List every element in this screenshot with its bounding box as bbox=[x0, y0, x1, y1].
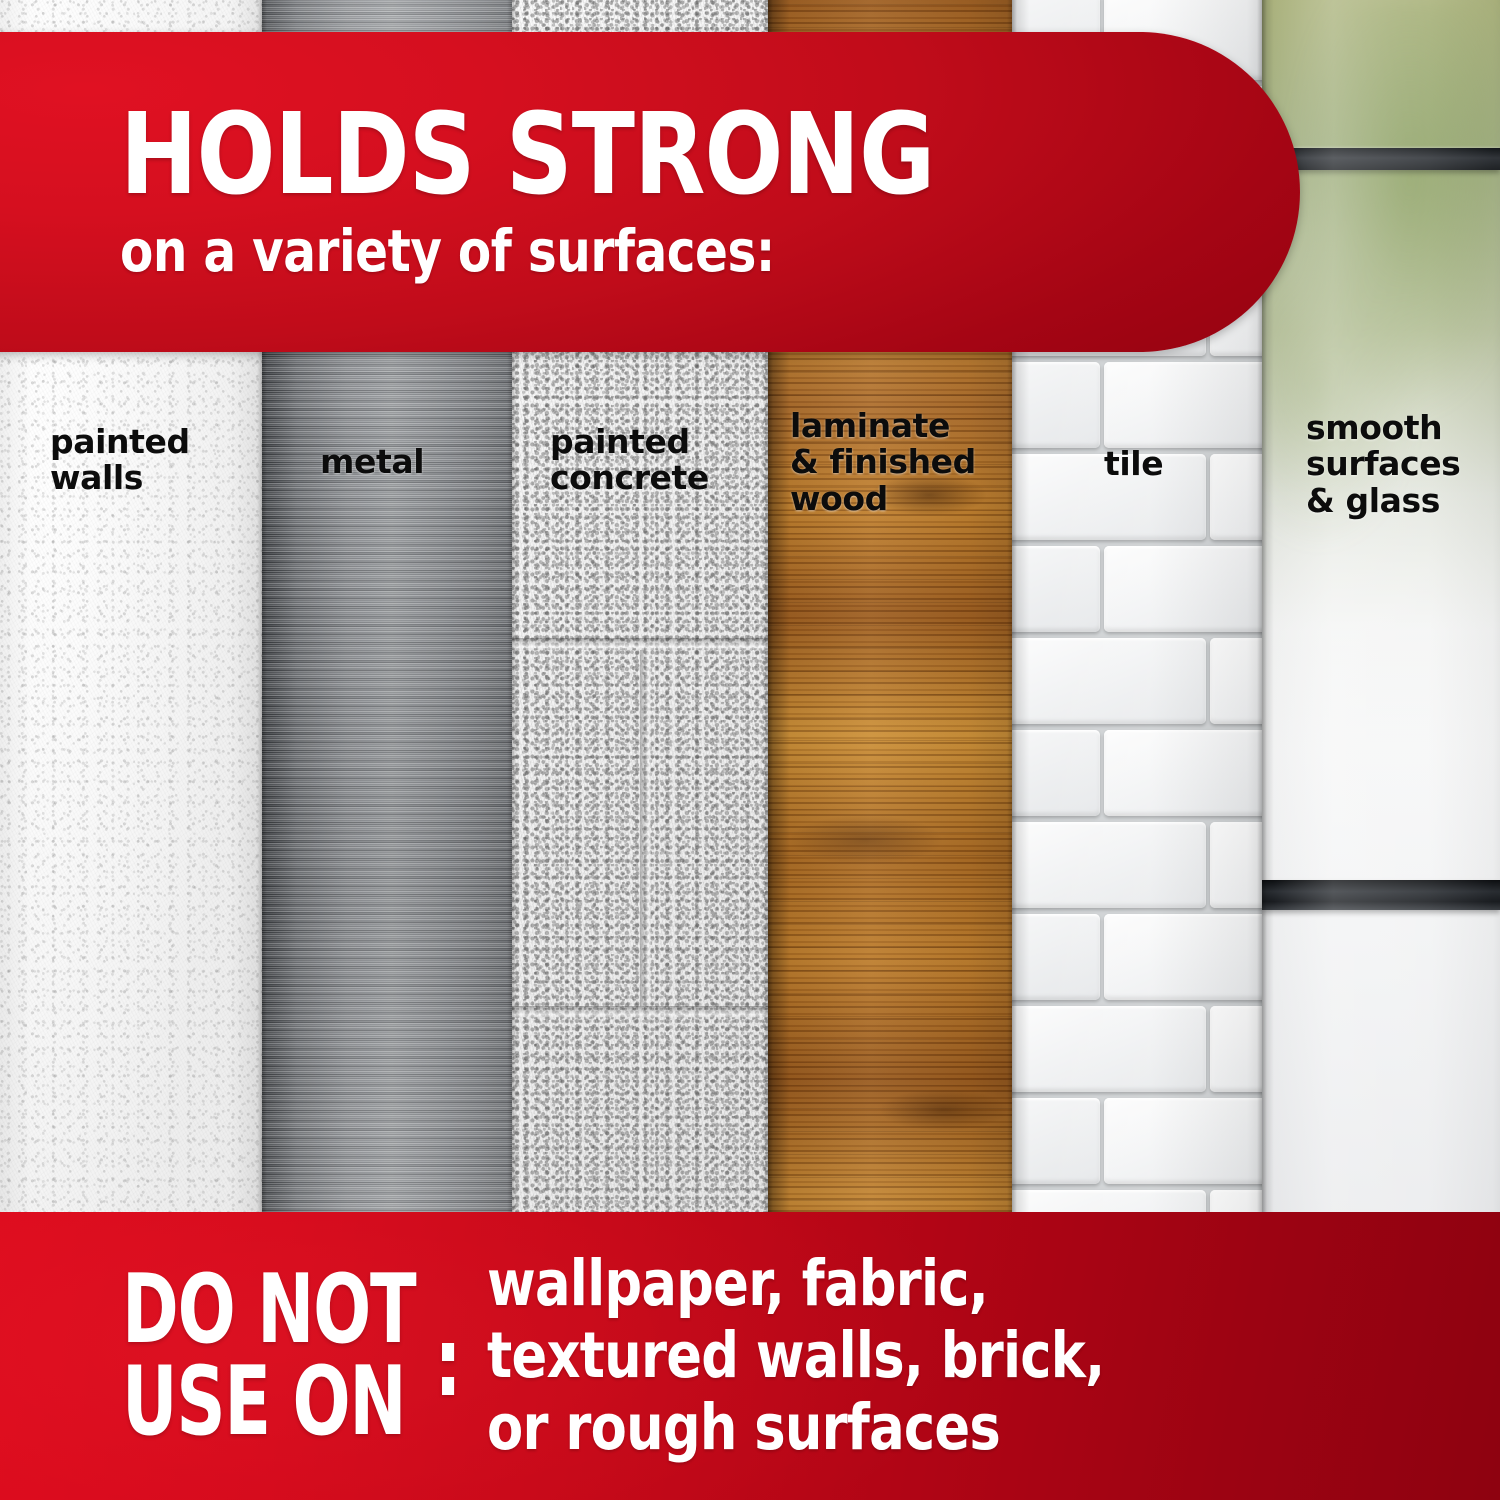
do-not-use-on-list: wallpaper, fabric, textured walls, brick… bbox=[487, 1248, 1104, 1463]
product-infographic: painted walls metal painted concrete lam… bbox=[0, 0, 1500, 1500]
surface-label-painted-concrete: painted concrete bbox=[550, 424, 765, 497]
subhead-variety-of-surfaces: on a variety of surfaces: bbox=[120, 222, 1217, 280]
holds-strong-banner: HOLDS STRONG on a variety of surfaces: bbox=[0, 32, 1300, 352]
headline-holds-strong: HOLDS STRONG bbox=[120, 104, 1206, 207]
do-not-use-on-colon: : bbox=[434, 1316, 461, 1411]
surface-label-painted-walls: painted walls bbox=[50, 424, 250, 497]
surface-label-smooth-glass: smooth surfaces & glass bbox=[1306, 410, 1500, 519]
surface-label-tile: tile bbox=[1104, 446, 1254, 482]
surface-label-laminate-wood: laminate & finished wood bbox=[790, 408, 1010, 517]
surface-label-metal: metal bbox=[320, 444, 500, 480]
do-not-use-on-heading: DO NOT USE ON : bbox=[122, 1264, 465, 1448]
do-not-use-on-banner: DO NOT USE ON : wallpaper, fabric, textu… bbox=[0, 1212, 1500, 1500]
do-not-use-on-text: DO NOT USE ON bbox=[122, 1264, 415, 1448]
